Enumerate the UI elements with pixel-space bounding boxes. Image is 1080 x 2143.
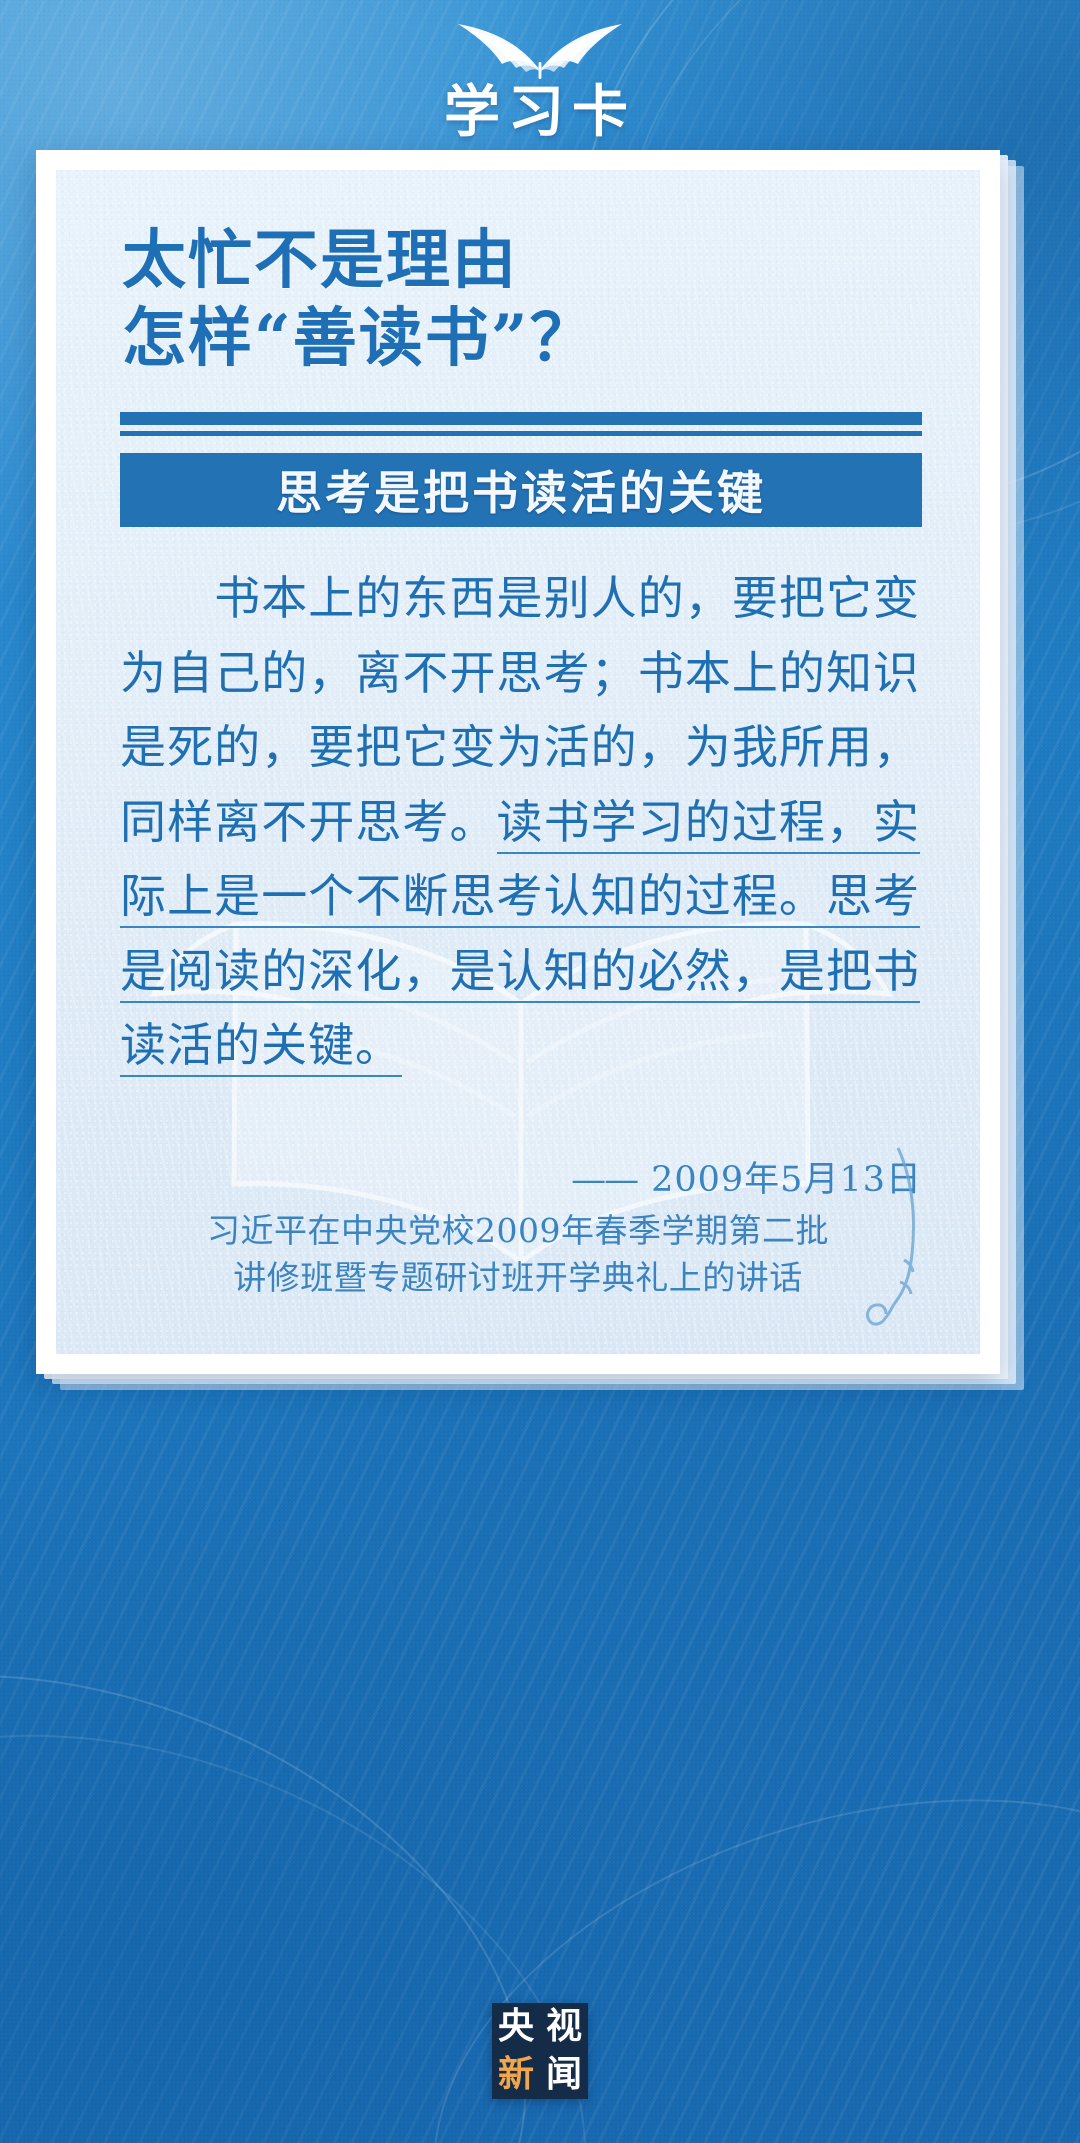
calligraphy-brush-icon <box>820 1142 940 1332</box>
section-banner-label: 思考是把书读活的关键 <box>276 457 766 523</box>
logo-char-2: 视 <box>540 2003 588 2051</box>
footer: 央 视 新 闻 <box>0 2003 1080 2099</box>
divider-thin <box>120 431 922 436</box>
logo-char-1: 央 <box>492 2003 540 2051</box>
quote-card: 太忙不是理由 怎样“善读书”？ 思考是把书读活的关键 书本上的东西是别人的，要把… <box>36 150 1000 1374</box>
divider-thick <box>120 412 922 425</box>
attribution: ——2009年5月13日 习近平在中央党校2009年春季学期第二批 讲修班暨专题… <box>114 1151 922 1302</box>
headline: 太忙不是理由 怎样“善读书”？ <box>114 222 922 378</box>
headline-line-1: 太忙不是理由 <box>122 222 922 300</box>
page-title: 学习卡 <box>0 84 1080 143</box>
headline-line-2: 怎样“善读书”？ <box>122 300 922 378</box>
quote-body: 书本上的东西是别人的，要把它变为自己的，离不开思考；书本上的知识是死的，要把它变… <box>114 561 922 1083</box>
cctv-news-logo[interactable]: 央 视 新 闻 <box>492 2003 588 2099</box>
header: 学习卡 <box>0 18 1080 143</box>
logo-char-4: 闻 <box>540 2051 588 2099</box>
card-paper-surface: 太忙不是理由 怎样“善读书”？ 思考是把书读活的关键 书本上的东西是别人的，要把… <box>56 170 980 1354</box>
logo-char-3: 新 <box>492 2051 540 2099</box>
divider-rules <box>114 412 922 436</box>
open-book-icon <box>440 18 640 80</box>
section-banner: 思考是把书读活的关键 <box>120 453 922 527</box>
attribution-source-line-1: 习近平在中央党校2009年春季学期第二批 <box>114 1208 922 1255</box>
attribution-dash: —— <box>571 1160 637 1200</box>
attribution-source-line-2: 讲修班暨专题研讨班开学典礼上的讲话 <box>114 1255 922 1302</box>
attribution-date-line: ——2009年5月13日 <box>114 1151 922 1202</box>
